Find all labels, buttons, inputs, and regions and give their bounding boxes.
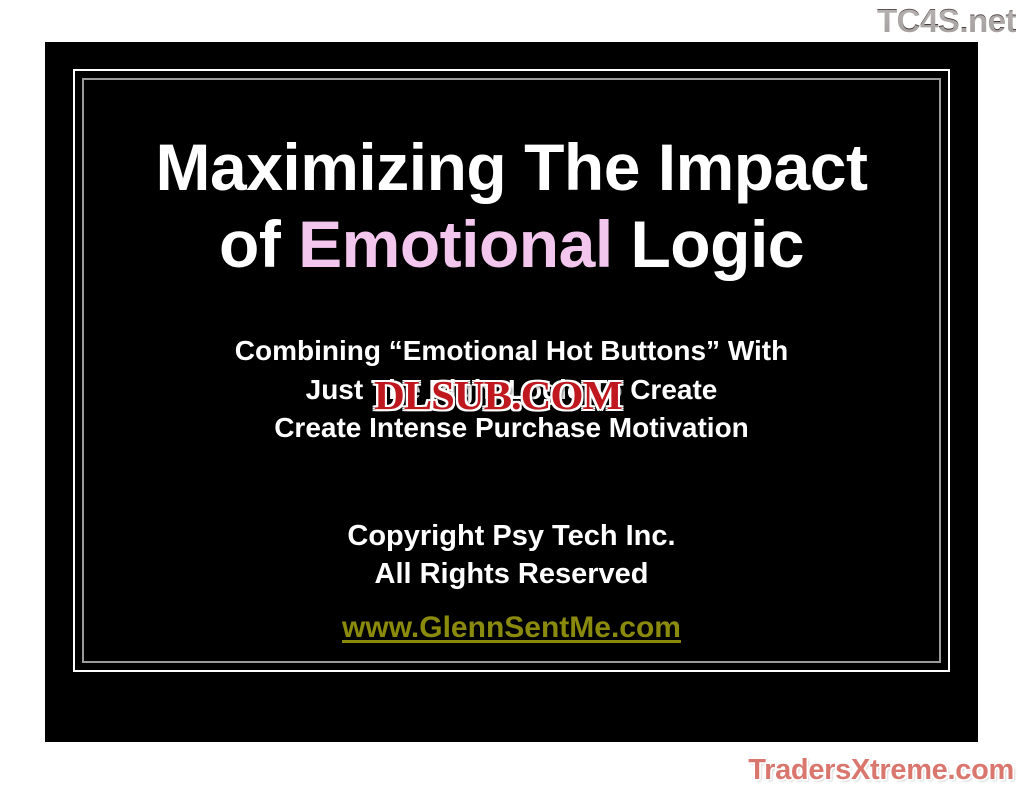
- slide-copyright: Copyright Psy Tech Inc. All Rights Reser…: [45, 517, 978, 594]
- site-link[interactable]: www.GlennSentMe.com: [342, 611, 681, 644]
- header-watermark: TC4S.net: [877, 2, 1016, 40]
- footer-watermark: TradersXtreme.com: [748, 754, 1014, 787]
- copyright-line-1: Copyright Psy Tech Inc.: [45, 517, 978, 555]
- body-watermark: DLSUB.COM: [374, 371, 622, 419]
- subtitle-line-1: Combining “Emotional Hot Buttons” With: [45, 332, 978, 371]
- title-line-2-emphasis: Emotional: [298, 207, 613, 281]
- title-line-2-prefix: of: [219, 207, 298, 281]
- title-line-2: of Emotional Logic: [45, 206, 978, 283]
- slide-title: Maximizing The Impact of Emotional Logic: [45, 129, 978, 282]
- copyright-line-2: All Rights Reserved: [45, 555, 978, 593]
- title-line-1: Maximizing The Impact: [45, 129, 978, 206]
- site-link-container: www.GlennSentMe.com: [45, 611, 978, 645]
- title-line-2-suffix: Logic: [613, 207, 804, 281]
